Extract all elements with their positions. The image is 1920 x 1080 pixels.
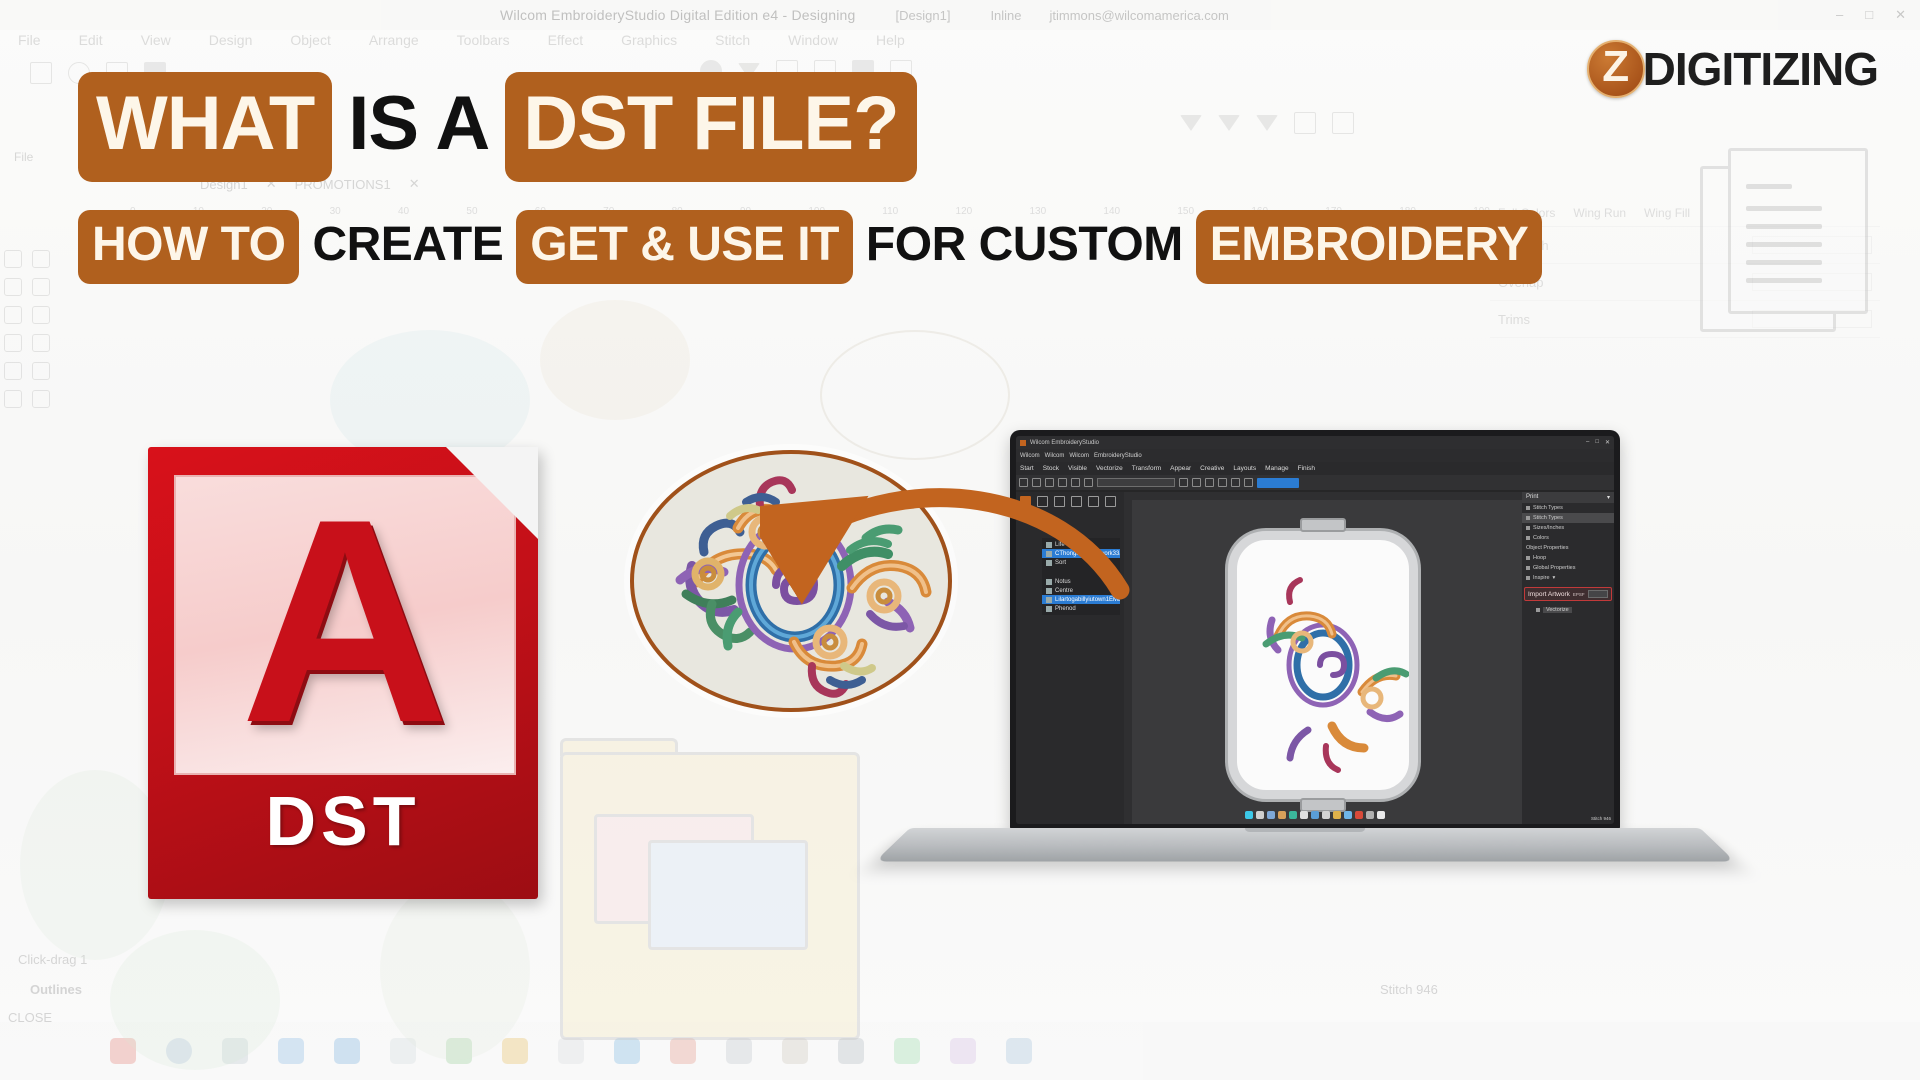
menu-item-view[interactable]: View — [141, 32, 171, 48]
properties-dropdown-icon — [1526, 576, 1530, 580]
dst-icon-extension-label: DST — [148, 781, 538, 861]
folder-document-blue — [648, 840, 808, 950]
taskbar-icon-teams[interactable] — [950, 1038, 976, 1064]
background-window-title: Wilcom EmbroideryStudio Digital Edition … — [500, 7, 856, 23]
minimize-icon[interactable]: – — [1586, 439, 1589, 446]
ribbon-icon-align-b[interactable] — [1218, 115, 1240, 131]
properties-item-label: Stitch Types — [1533, 505, 1563, 511]
laptop-base — [875, 828, 1735, 862]
dock-icon-folder[interactable] — [1278, 811, 1286, 819]
tool-icon-line[interactable] — [32, 278, 50, 296]
taskbar-icon-taskview[interactable] — [222, 1038, 248, 1064]
dock-icon-word[interactable] — [1300, 811, 1308, 819]
document-text-line — [1746, 278, 1822, 283]
tool-icon-node[interactable] — [32, 250, 50, 268]
properties-item-label: Stitch Types — [1533, 515, 1563, 521]
properties-item-label: Object Properties — [1526, 545, 1569, 551]
menu-item-arrange[interactable]: Arrange — [369, 32, 419, 48]
ribbon-icon-align-a[interactable] — [1180, 115, 1202, 131]
headline-chip-dst-file: DST FILE? — [505, 72, 916, 182]
dock-icon-calculator[interactable] — [1377, 811, 1385, 819]
properties-item-icon — [1526, 536, 1530, 540]
tool-icon-reshape[interactable] — [4, 278, 22, 296]
properties-item-icon — [1526, 566, 1530, 570]
background-taskbar[interactable] — [0, 1022, 1920, 1080]
flow-arrow-icon — [760, 430, 1180, 670]
document-stack-graphic — [1700, 148, 1880, 334]
taskbar-icon-mail[interactable] — [446, 1038, 472, 1064]
vectorize-label: Vectorize — [1543, 607, 1572, 613]
dst-file-icon: A DST — [148, 447, 538, 899]
subhead-plain-for-custom: FOR CUSTOM — [853, 210, 1196, 284]
dock-icon-settings[interactable] — [1366, 811, 1374, 819]
background-account-email: jtimmons@wilcomamerica.com — [1050, 8, 1229, 23]
panel-tab-wing-run[interactable]: Wing Run — [1573, 206, 1626, 220]
properties-item-label: Global Properties — [1533, 565, 1576, 571]
taskbar-icon-chat[interactable] — [838, 1038, 864, 1064]
menu-item-graphics[interactable]: Graphics — [621, 32, 677, 48]
taskbar-icon-word[interactable] — [558, 1038, 584, 1064]
menu-item-toolbars[interactable]: Toolbars — [457, 32, 510, 48]
document-text-line — [1746, 224, 1822, 229]
taskbar-icon-store[interactable] — [390, 1038, 416, 1064]
tool-icon-zoom[interactable] — [32, 362, 50, 380]
design-canvas[interactable] — [1124, 492, 1522, 824]
properties-item-icon — [1526, 556, 1530, 560]
dock-icon-store[interactable] — [1333, 811, 1341, 819]
os-clock: Stitch 946 — [1591, 816, 1611, 821]
menu-item-window[interactable]: Window — [788, 32, 838, 48]
toolbar-icon-redo[interactable] — [1192, 478, 1201, 487]
properties-item[interactable]: Stitch Types — [1522, 503, 1614, 513]
background-title-bar: Wilcom EmbroideryStudio Digital Edition … — [0, 0, 1920, 30]
background-window-controls[interactable]: – □ ✕ — [1836, 7, 1906, 23]
properties-panel-header: Print ▾ — [1522, 492, 1614, 503]
ribbon-icon-align-e[interactable] — [1332, 112, 1354, 134]
taskbar-icon-notes[interactable] — [782, 1038, 808, 1064]
properties-panel-title: Print — [1526, 494, 1538, 501]
logo-z-letter: Z — [1602, 45, 1629, 89]
status-outline-label: Outlines — [30, 982, 82, 997]
maximize-icon[interactable]: □ — [1865, 7, 1873, 23]
ribbon-icon-new[interactable] — [30, 62, 52, 84]
ribbon-icon-align-d[interactable] — [1294, 112, 1316, 134]
headline-chip-what: WHAT — [78, 72, 332, 182]
dock-icon-mail[interactable] — [1289, 811, 1297, 819]
properties-dropdown[interactable]: Inspire ▾ — [1522, 573, 1614, 583]
taskbar-icon-explorer[interactable] — [334, 1038, 360, 1064]
properties-item-icon — [1526, 516, 1530, 520]
background-file-panel-label: File — [14, 150, 33, 164]
dock-icon-edge[interactable] — [1344, 811, 1352, 819]
properties-item-label: Hoop — [1533, 555, 1546, 561]
properties-item[interactable]: Sizes/Inches — [1522, 523, 1614, 533]
dst-icon-page-fold — [446, 447, 538, 539]
import-artwork-hint: EPSF — [1573, 592, 1585, 597]
background-left-toolbox[interactable] — [4, 250, 54, 408]
tool-icon-rect[interactable] — [4, 334, 22, 352]
panel-row-label: Trims — [1498, 312, 1530, 327]
tool-icon-fill[interactable] — [4, 362, 22, 380]
folder-graphic — [560, 752, 860, 1040]
taskbar-icon-settings[interactable] — [726, 1038, 752, 1064]
document-page-front — [1728, 148, 1868, 314]
headline-plain-is-a: IS A — [332, 72, 505, 182]
dock-icon-notes[interactable] — [1322, 811, 1330, 819]
tool-icon-text[interactable] — [32, 334, 50, 352]
menu-item-file[interactable]: File — [18, 32, 41, 48]
taskbar-icon-photos[interactable] — [1006, 1038, 1032, 1064]
tool-icon-pan[interactable] — [4, 390, 22, 408]
taskbar-icon-edge[interactable] — [278, 1038, 304, 1064]
vectorize-row[interactable]: Vectorize — [1532, 605, 1614, 615]
laptop-trackpad-notch — [1244, 828, 1365, 832]
tool-icon-circle[interactable] — [32, 306, 50, 324]
toolbar-icon-undo[interactable] — [1179, 478, 1188, 487]
toolbar-embroidery-button[interactable] — [1257, 478, 1299, 488]
menu-item-edit[interactable]: Edit — [79, 32, 103, 48]
brand-logo[interactable]: Z DIGITIZING — [1587, 40, 1886, 98]
background-status-bar: Click-drag 1 Outlines CLOSE Stitch 946 — [0, 952, 1920, 1022]
document-text-line — [1746, 260, 1822, 265]
toolbar-icon-zoom[interactable] — [1205, 478, 1214, 487]
tool-icon-measure[interactable] — [32, 390, 50, 408]
vectorize-icon — [1536, 608, 1540, 612]
tool-icon-select[interactable] — [4, 250, 22, 268]
menu-item-design[interactable]: Design — [209, 32, 253, 48]
maximize-icon[interactable]: □ — [1595, 439, 1599, 446]
status-stitch-count: Stitch 946 — [1380, 982, 1438, 997]
subhead-chip-how-to: HOW TO — [78, 210, 299, 284]
hoop-clamp-top — [1300, 518, 1346, 532]
page-subtitle: HOW TO CREATE GET & USE IT FOR CUSTOM EM… — [78, 210, 1542, 284]
dock-icon-pdf[interactable] — [1355, 811, 1363, 819]
taskbar-icon-folder[interactable] — [502, 1038, 528, 1064]
background-document-name: [Design1] — [896, 8, 951, 23]
document-text-line — [1746, 184, 1792, 189]
dock-icon-cortana[interactable] — [1245, 811, 1253, 819]
ribbon-tab-layouts[interactable]: Layouts — [1233, 465, 1256, 472]
background-session-label: Inline — [990, 8, 1021, 23]
os-status-stitch: Stitch 946 — [1591, 816, 1611, 821]
properties-item-icon — [1526, 506, 1530, 510]
toolbar-icon-stitch[interactable] — [1244, 478, 1253, 487]
document-text-line — [1746, 206, 1822, 211]
subhead-chip-embroidery: EMBROIDERY — [1196, 210, 1543, 284]
taskbar-icon-start[interactable] — [110, 1038, 136, 1064]
menu-item-object[interactable]: Object — [290, 32, 330, 48]
status-hint: Click-drag 1 — [18, 952, 87, 967]
taskbar-icon-ppt[interactable] — [670, 1038, 696, 1064]
search-icon[interactable] — [166, 1038, 192, 1064]
import-artwork-field[interactable] — [1588, 590, 1608, 598]
menu-item-help[interactable]: Help — [876, 32, 905, 48]
properties-item[interactable]: Hoop — [1522, 553, 1614, 563]
ribbon-icon-align-c[interactable] — [1256, 115, 1278, 131]
taskbar-icon-spotify[interactable] — [894, 1038, 920, 1064]
menu-item-stitch[interactable]: Stitch — [715, 32, 750, 48]
properties-item[interactable]: Global Properties — [1522, 563, 1614, 573]
menu-item-effect[interactable]: Effect — [548, 32, 584, 48]
close-icon[interactable]: ✕ — [1895, 7, 1906, 23]
dock-icon-explorer[interactable] — [1267, 811, 1275, 819]
taskbar-icon-excel[interactable] — [614, 1038, 640, 1064]
logo-wordmark: DIGITIZING — [1643, 42, 1878, 96]
minimize-icon[interactable]: – — [1836, 7, 1843, 23]
embroidery-hoop-icon — [1228, 531, 1418, 799]
properties-item-icon — [1526, 526, 1530, 530]
panel-tab-wing-fill[interactable]: Wing Fill — [1644, 206, 1690, 220]
properties-dropdown-value: Inspire — [1533, 575, 1550, 581]
canvas-horizontal-ruler — [1124, 492, 1522, 500]
chevron-down-icon[interactable]: ▾ — [1607, 494, 1610, 501]
import-artwork-label: Import Artwork — [1528, 591, 1570, 598]
subhead-plain-create: CREATE — [299, 210, 516, 284]
import-artwork-callout[interactable]: Import Artwork EPSF — [1524, 587, 1612, 601]
ribbon-tab-finish[interactable]: Finish — [1298, 465, 1315, 472]
properties-item-label: Sizes/Inches — [1533, 525, 1564, 531]
app-window-controls[interactable]: – □ ✕ — [1586, 439, 1610, 446]
properties-item[interactable]: Object Properties — [1522, 543, 1614, 553]
properties-item-label: Colors — [1533, 535, 1549, 541]
subhead-chip-get-use-it: GET & USE IT — [516, 210, 853, 284]
toolbar-icon-hoop[interactable] — [1231, 478, 1240, 487]
page-title: WHAT IS A DST FILE? — [78, 72, 917, 182]
properties-item-selected[interactable]: Stitch Types — [1522, 513, 1614, 523]
logo-z-badge-icon: Z — [1587, 40, 1645, 98]
ribbon-tab-manage[interactable]: Manage — [1265, 465, 1289, 472]
dock-icon-excel[interactable] — [1311, 811, 1319, 819]
chevron-down-icon[interactable]: ▾ — [1553, 575, 1556, 581]
ribbon-tab-creative[interactable]: Creative — [1200, 465, 1224, 472]
properties-item[interactable]: Colors — [1522, 533, 1614, 543]
tool-icon-curve[interactable] — [4, 306, 22, 324]
background-menu-bar[interactable]: File Edit View Design Object Arrange Too… — [18, 32, 905, 48]
document-text-line — [1746, 242, 1822, 247]
dock-icon-search[interactable] — [1256, 811, 1264, 819]
toolbar-icon-grid[interactable] — [1218, 478, 1227, 487]
close-icon[interactable]: ✕ — [1605, 439, 1610, 446]
os-taskbar[interactable] — [1016, 808, 1614, 822]
decor-blob-teal — [540, 300, 690, 420]
properties-panel[interactable]: Print ▾ Stitch Types Stitch Types Sizes/… — [1522, 492, 1614, 824]
hoop-design-motif-icon — [1237, 540, 1409, 790]
